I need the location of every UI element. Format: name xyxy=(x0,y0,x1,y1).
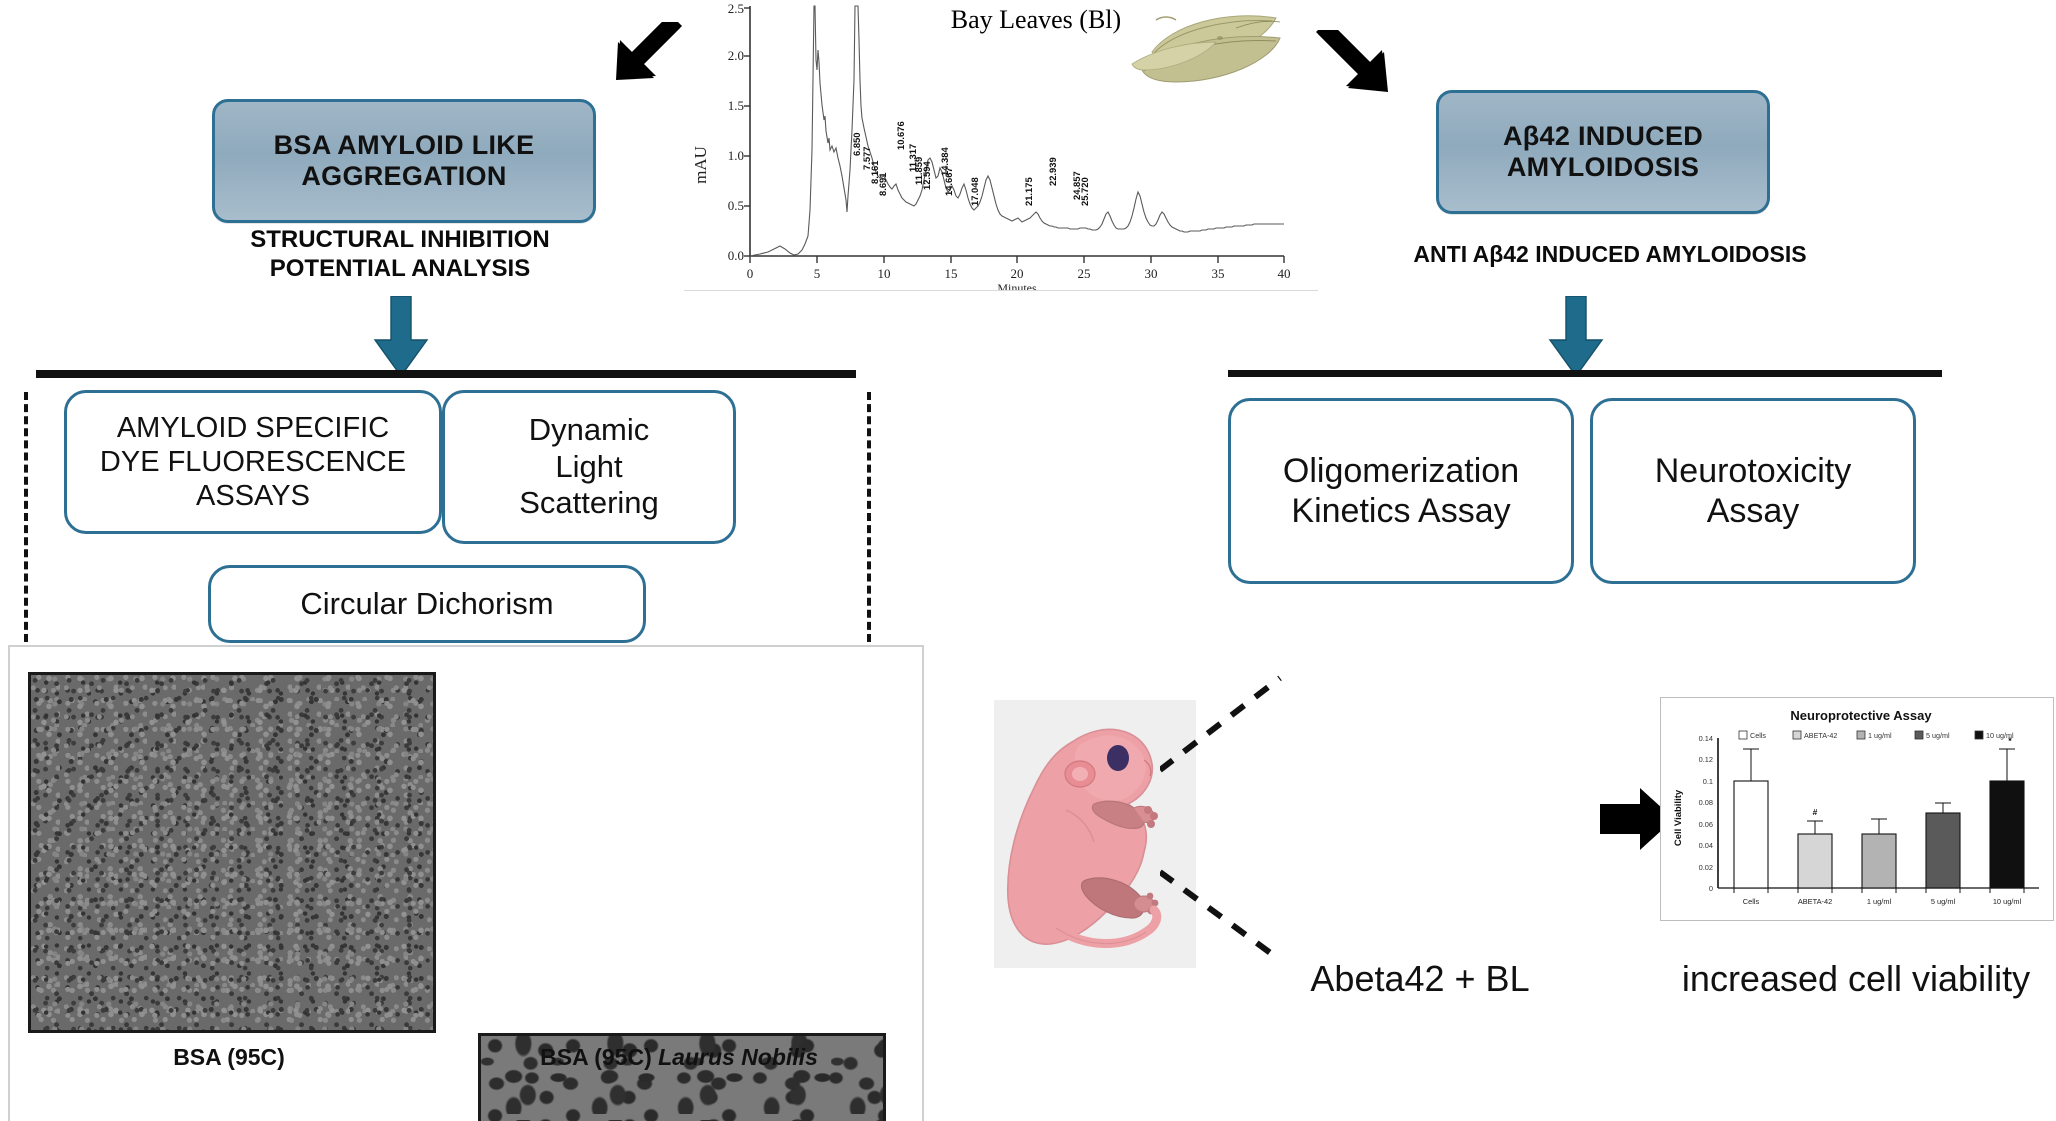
abeta-box-line-2: AMYLOIDOSIS xyxy=(1503,152,1703,183)
hplc-peak-label-14-667: 14.667 xyxy=(943,167,954,196)
hplc-peak-label-8-691: 8.691 xyxy=(877,173,888,196)
chart-xtick-4: 10 ug/ml xyxy=(1993,897,2022,906)
left-down-arrow-svg xyxy=(371,296,431,378)
chart-legend-1: ABETA-42 xyxy=(1804,731,1837,740)
hplc-ytick-1: 0.5 xyxy=(728,198,744,213)
left-section-rule xyxy=(36,370,856,378)
dynamic-light-scattering-box[interactable]: Dynamic Light Scattering xyxy=(442,390,736,544)
amyloid-dye-line-1: AMYLOID SPECIFIC xyxy=(100,411,406,445)
chart-bar-cells xyxy=(1734,781,1768,888)
micrograph-bsa-95c-laurus-caption: BSA (95C) Laurus Nobilis xyxy=(448,1044,910,1071)
chart-annotation-hash: # xyxy=(1813,807,1818,817)
hplc-y-axis-label: mAU xyxy=(691,146,710,184)
hplc-peak-label-22-939: 22.939 xyxy=(1047,157,1058,186)
caption-2-italic: Laurus Nobilis xyxy=(658,1044,818,1070)
amyloid-dye-fluorescence-assay-box[interactable]: AMYLOID SPECIFIC DYE FLUORESCENCE ASSAYS xyxy=(64,390,442,534)
hplc-xtick-15: 15 xyxy=(945,266,958,281)
abeta42-amyloidosis-box[interactable]: Aβ42 INDUCED AMYLOIDOSIS xyxy=(1436,90,1770,214)
chart-title: Neuroprotective Assay xyxy=(1790,708,1932,723)
oligomerization-line-2: Kinetics Assay xyxy=(1283,491,1519,531)
right-flow-arrow-down-icon xyxy=(1546,296,1606,378)
graphical-abstract: Bay Leaves (Bl) mAU 0.0 0.5 1.0 1.5 2.0 … xyxy=(0,0,2056,1121)
arrow-diagonal-down-right-icon xyxy=(1310,30,1418,108)
chart-ytick-1: 0.02 xyxy=(1699,863,1713,872)
hplc-peak-label-10-676: 10.676 xyxy=(895,121,906,150)
chart-ytick-6: 0.12 xyxy=(1699,755,1713,764)
chart-ytick-5: 0.1 xyxy=(1703,777,1713,786)
neurotoxicity-line-2: Assay xyxy=(1655,491,1852,531)
bay-leaves-icon xyxy=(1124,8,1304,88)
chart-bar-1ugml xyxy=(1862,834,1896,888)
increased-cell-viability-label: increased cell viability xyxy=(1682,958,2030,999)
bsa-amyloid-aggregation-box[interactable]: BSA AMYLOID LIKE AGGREGATION xyxy=(212,99,596,223)
hplc-ytick-0: 0.0 xyxy=(728,248,744,263)
neuroprotective-chart-svg: Neuroprotective Assay Cells ABETA-42 1 u… xyxy=(1661,698,2053,920)
left-flow-arrow-down-icon xyxy=(371,296,431,378)
chart-ytick-2: 0.04 xyxy=(1699,841,1713,850)
chart-bar-5ugml xyxy=(1926,813,1960,888)
left-inbound-arrow-svg xyxy=(584,22,686,94)
right-down-arrow-svg xyxy=(1546,296,1606,378)
anti-abeta42-subtitle: ANTI Aβ42 INDUCED AMYLOIDOSIS xyxy=(1310,240,1910,268)
chart-bar-abeta42 xyxy=(1798,834,1832,888)
hplc-xtick-40: 40 xyxy=(1278,266,1291,281)
right-subtitle-text: ANTI Aβ42 INDUCED AMYLOIDOSIS xyxy=(1413,241,1806,267)
chart-xtick-2: 1 ug/ml xyxy=(1867,897,1892,906)
chart-bar-10ugml xyxy=(1990,781,2024,888)
abeta-box-line-1: Aβ42 INDUCED xyxy=(1503,121,1703,152)
oligomerization-kinetics-assay-box[interactable]: Oligomerization Kinetics Assay xyxy=(1228,398,1574,584)
micrograph-bsa-95c-caption: BSA (95C) xyxy=(28,1044,430,1071)
structural-inhibition-subtitle: STRUCTURAL INHIBITION POTENTIAL ANALYSIS xyxy=(190,225,610,284)
dls-line-3: Scattering xyxy=(519,485,659,522)
caption-1-main: BSA (95C) xyxy=(173,1044,285,1070)
bay-leaves-photo xyxy=(1124,8,1304,88)
abeta42-bl-caption-text: Abeta42 + BL xyxy=(1310,958,1529,999)
hplc-title: Bay Leaves (Bl) xyxy=(951,5,1121,34)
right-inbound-arrow-svg xyxy=(1310,30,1418,108)
amyloid-dye-line-2: DYE FLUORESCENCE xyxy=(100,445,406,479)
hplc-xtick-35: 35 xyxy=(1212,266,1225,281)
dls-line-1: Dynamic xyxy=(519,412,659,449)
hplc-x-axis-label: Minutes xyxy=(997,281,1037,290)
hplc-ytick-2: 1.0 xyxy=(728,148,744,163)
hplc-xtick-0: 0 xyxy=(747,266,754,281)
oligomerization-line-1: Oligomerization xyxy=(1283,451,1519,491)
hplc-ytick-4: 2.0 xyxy=(728,48,744,63)
chart-xtick-3: 5 ug/ml xyxy=(1931,897,1956,906)
right-section-rule xyxy=(1228,370,1942,377)
hplc-xtick-5: 5 xyxy=(814,266,821,281)
chart-ytick-3: 0.06 xyxy=(1699,820,1713,829)
magnification-leader-lines xyxy=(1160,660,1360,980)
chart-annotation-star: * xyxy=(2008,736,2012,746)
left-bracket-dash-end xyxy=(867,392,871,642)
chart-ytick-4: 0.08 xyxy=(1699,798,1713,807)
left-subtitle-line-1: STRUCTURAL INHIBITION xyxy=(190,225,610,254)
chart-legend-3: 5 ug/ml xyxy=(1926,731,1950,740)
left-subtitle-line-2: POTENTIAL ANALYSIS xyxy=(190,254,610,283)
chart-y-axis-label: Cell Viability xyxy=(1673,789,1684,846)
hplc-ytick-3: 1.5 xyxy=(728,98,744,113)
chart-ytick-0: 0 xyxy=(1709,884,1713,893)
amyloid-dye-line-3: ASSAYS xyxy=(100,479,406,513)
abeta42-bl-caption: Abeta42 + BL xyxy=(1250,958,1590,1000)
chart-ytick-7: 0.14 xyxy=(1699,734,1713,743)
caption-2-main: BSA (95C) xyxy=(540,1044,658,1070)
hplc-peak-label-25-720: 25.720 xyxy=(1079,177,1090,206)
chart-legend-0: Cells xyxy=(1750,731,1766,740)
circular-dichorism-box[interactable]: Circular Dichorism xyxy=(208,565,646,643)
neurotoxicity-line-1: Neurotoxicity xyxy=(1655,451,1852,491)
chart-legend-2: 1 ug/ml xyxy=(1868,731,1892,740)
bsa-box-line-1: BSA AMYLOID LIKE xyxy=(274,130,535,161)
hplc-xtick-20: 20 xyxy=(1011,266,1024,281)
bsa-box-line-2: AGGREGATION xyxy=(274,161,535,192)
hplc-ytick-5: 2.5 xyxy=(728,1,744,16)
hplc-xtick-10: 10 xyxy=(878,266,891,281)
micrograph-bsa-95c xyxy=(28,672,436,1033)
cd-line-1: Circular Dichorism xyxy=(300,586,553,623)
chart-xtick-1: ABETA-42 xyxy=(1798,897,1832,906)
dls-line-2: Light xyxy=(519,449,659,486)
hplc-peak-label-21-175: 21.175 xyxy=(1023,177,1034,206)
neuroprotective-assay-chart: Neuroprotective Assay Cells ABETA-42 1 u… xyxy=(1660,697,2054,921)
hplc-peak-label-12-594: 12.594 xyxy=(921,161,932,190)
increased-cell-viability-text: increased cell viability xyxy=(1660,958,2052,1000)
chart-xtick-0: Cells xyxy=(1743,897,1760,906)
left-bracket-dash-start xyxy=(24,392,28,642)
arrow-diagonal-down-left-icon xyxy=(584,22,686,94)
neurotoxicity-assay-box[interactable]: Neurotoxicity Assay xyxy=(1590,398,1916,584)
hplc-xtick-25: 25 xyxy=(1078,266,1091,281)
hplc-peak-label-17-048: 17.048 xyxy=(969,177,980,206)
hplc-xtick-30: 30 xyxy=(1145,266,1158,281)
